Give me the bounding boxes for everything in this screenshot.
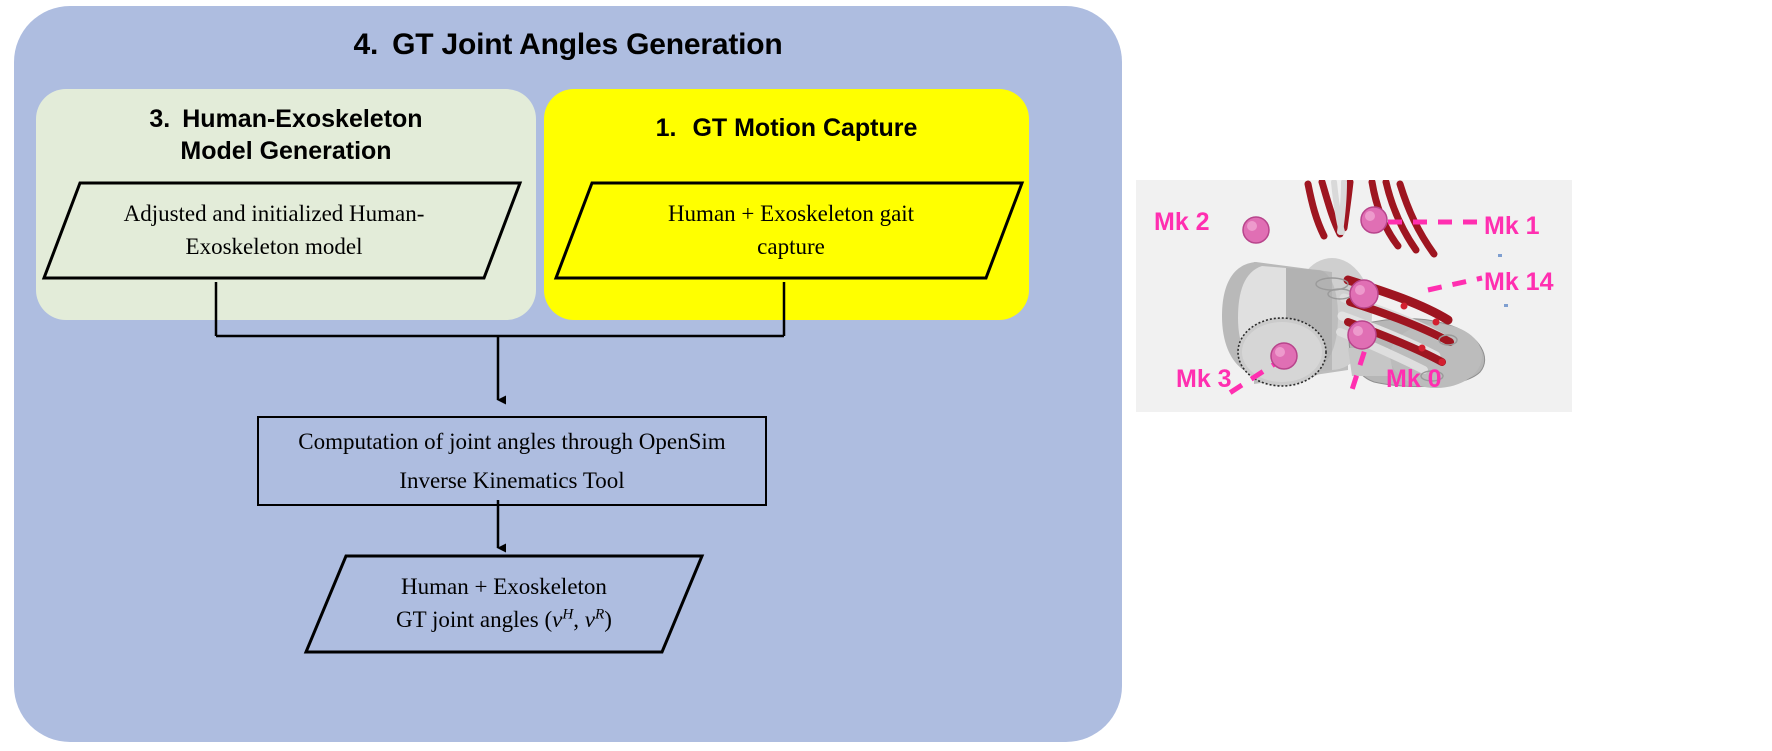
output-var1-superscript: H (562, 606, 573, 623)
process-box-line2: Inverse Kinematics Tool (399, 469, 624, 492)
output-line2-suffix: ) (604, 607, 612, 632)
green-card-step-number: 3. (149, 105, 170, 133)
data-shape-gait-capture-text: Human + Exoskeleton gait capture (618, 198, 960, 262)
green-card-title-line1: Human-Exoskeleton (182, 105, 422, 133)
output-separator: , (573, 607, 585, 632)
output-line2-prefix: GT joint angles ( (396, 607, 552, 632)
green-card-title-line2: Model Generation (180, 137, 391, 165)
gt-joint-angles-generation-panel: 4.GT Joint Angles Generation 3.Human-Exo… (14, 6, 1122, 742)
marker-label-mk0: Mk 0 (1386, 365, 1442, 394)
data-shape-adjusted-model-text: Adjusted and initialized Human- Exoskele… (84, 198, 481, 262)
data-shape-gait-capture: Human + Exoskeleton gait capture (554, 181, 1024, 280)
data-shape-gt-joint-angles-output: Human + Exoskeleton GT joint angles (vH,… (304, 554, 704, 654)
yellow-card-title-text: GT Motion Capture (692, 114, 917, 142)
gait-capture-line2: capture (757, 234, 825, 259)
exoskeleton-marker-image: Mk 2 Mk 1 Mk 14 Mk 3 Mk 0 (1136, 180, 1572, 412)
marker-label-mk14: Mk 14 (1484, 268, 1553, 297)
output-var1: v (552, 607, 562, 632)
output-line2: GT joint angles (vH, vR) (396, 607, 612, 632)
data-shape-output-text: Human + Exoskeleton GT joint angles (vH,… (354, 571, 654, 636)
output-var2: v (585, 607, 595, 632)
process-box-line1: Computation of joint angles through Open… (298, 430, 725, 453)
panel-title: 4.GT Joint Angles Generation (14, 28, 1122, 62)
panel-step-number: 4. (353, 28, 378, 61)
gait-capture-line1: Human + Exoskeleton gait (668, 201, 914, 226)
adjusted-model-line1: Adjusted and initialized Human- (124, 201, 425, 226)
output-line1: Human + Exoskeleton (401, 574, 607, 599)
marker-label-mk3: Mk 3 (1176, 365, 1232, 394)
process-box-inverse-kinematics: Computation of joint angles through Open… (257, 416, 767, 506)
marker-label-mk2: Mk 2 (1154, 208, 1210, 237)
data-shape-adjusted-model: Adjusted and initialized Human- Exoskele… (42, 181, 522, 280)
marker-label-mk1: Mk 1 (1484, 212, 1540, 241)
adjusted-model-line2: Exoskeleton model (186, 234, 363, 259)
yellow-card-title: 1.GT Motion Capture (544, 114, 1029, 143)
yellow-card-step-number: 1. (656, 114, 677, 142)
panel-title-text: GT Joint Angles Generation (392, 28, 782, 61)
output-var2-superscript: R (595, 606, 604, 623)
green-card-title: 3.Human-Exoskeleton Model Generation (36, 103, 536, 167)
